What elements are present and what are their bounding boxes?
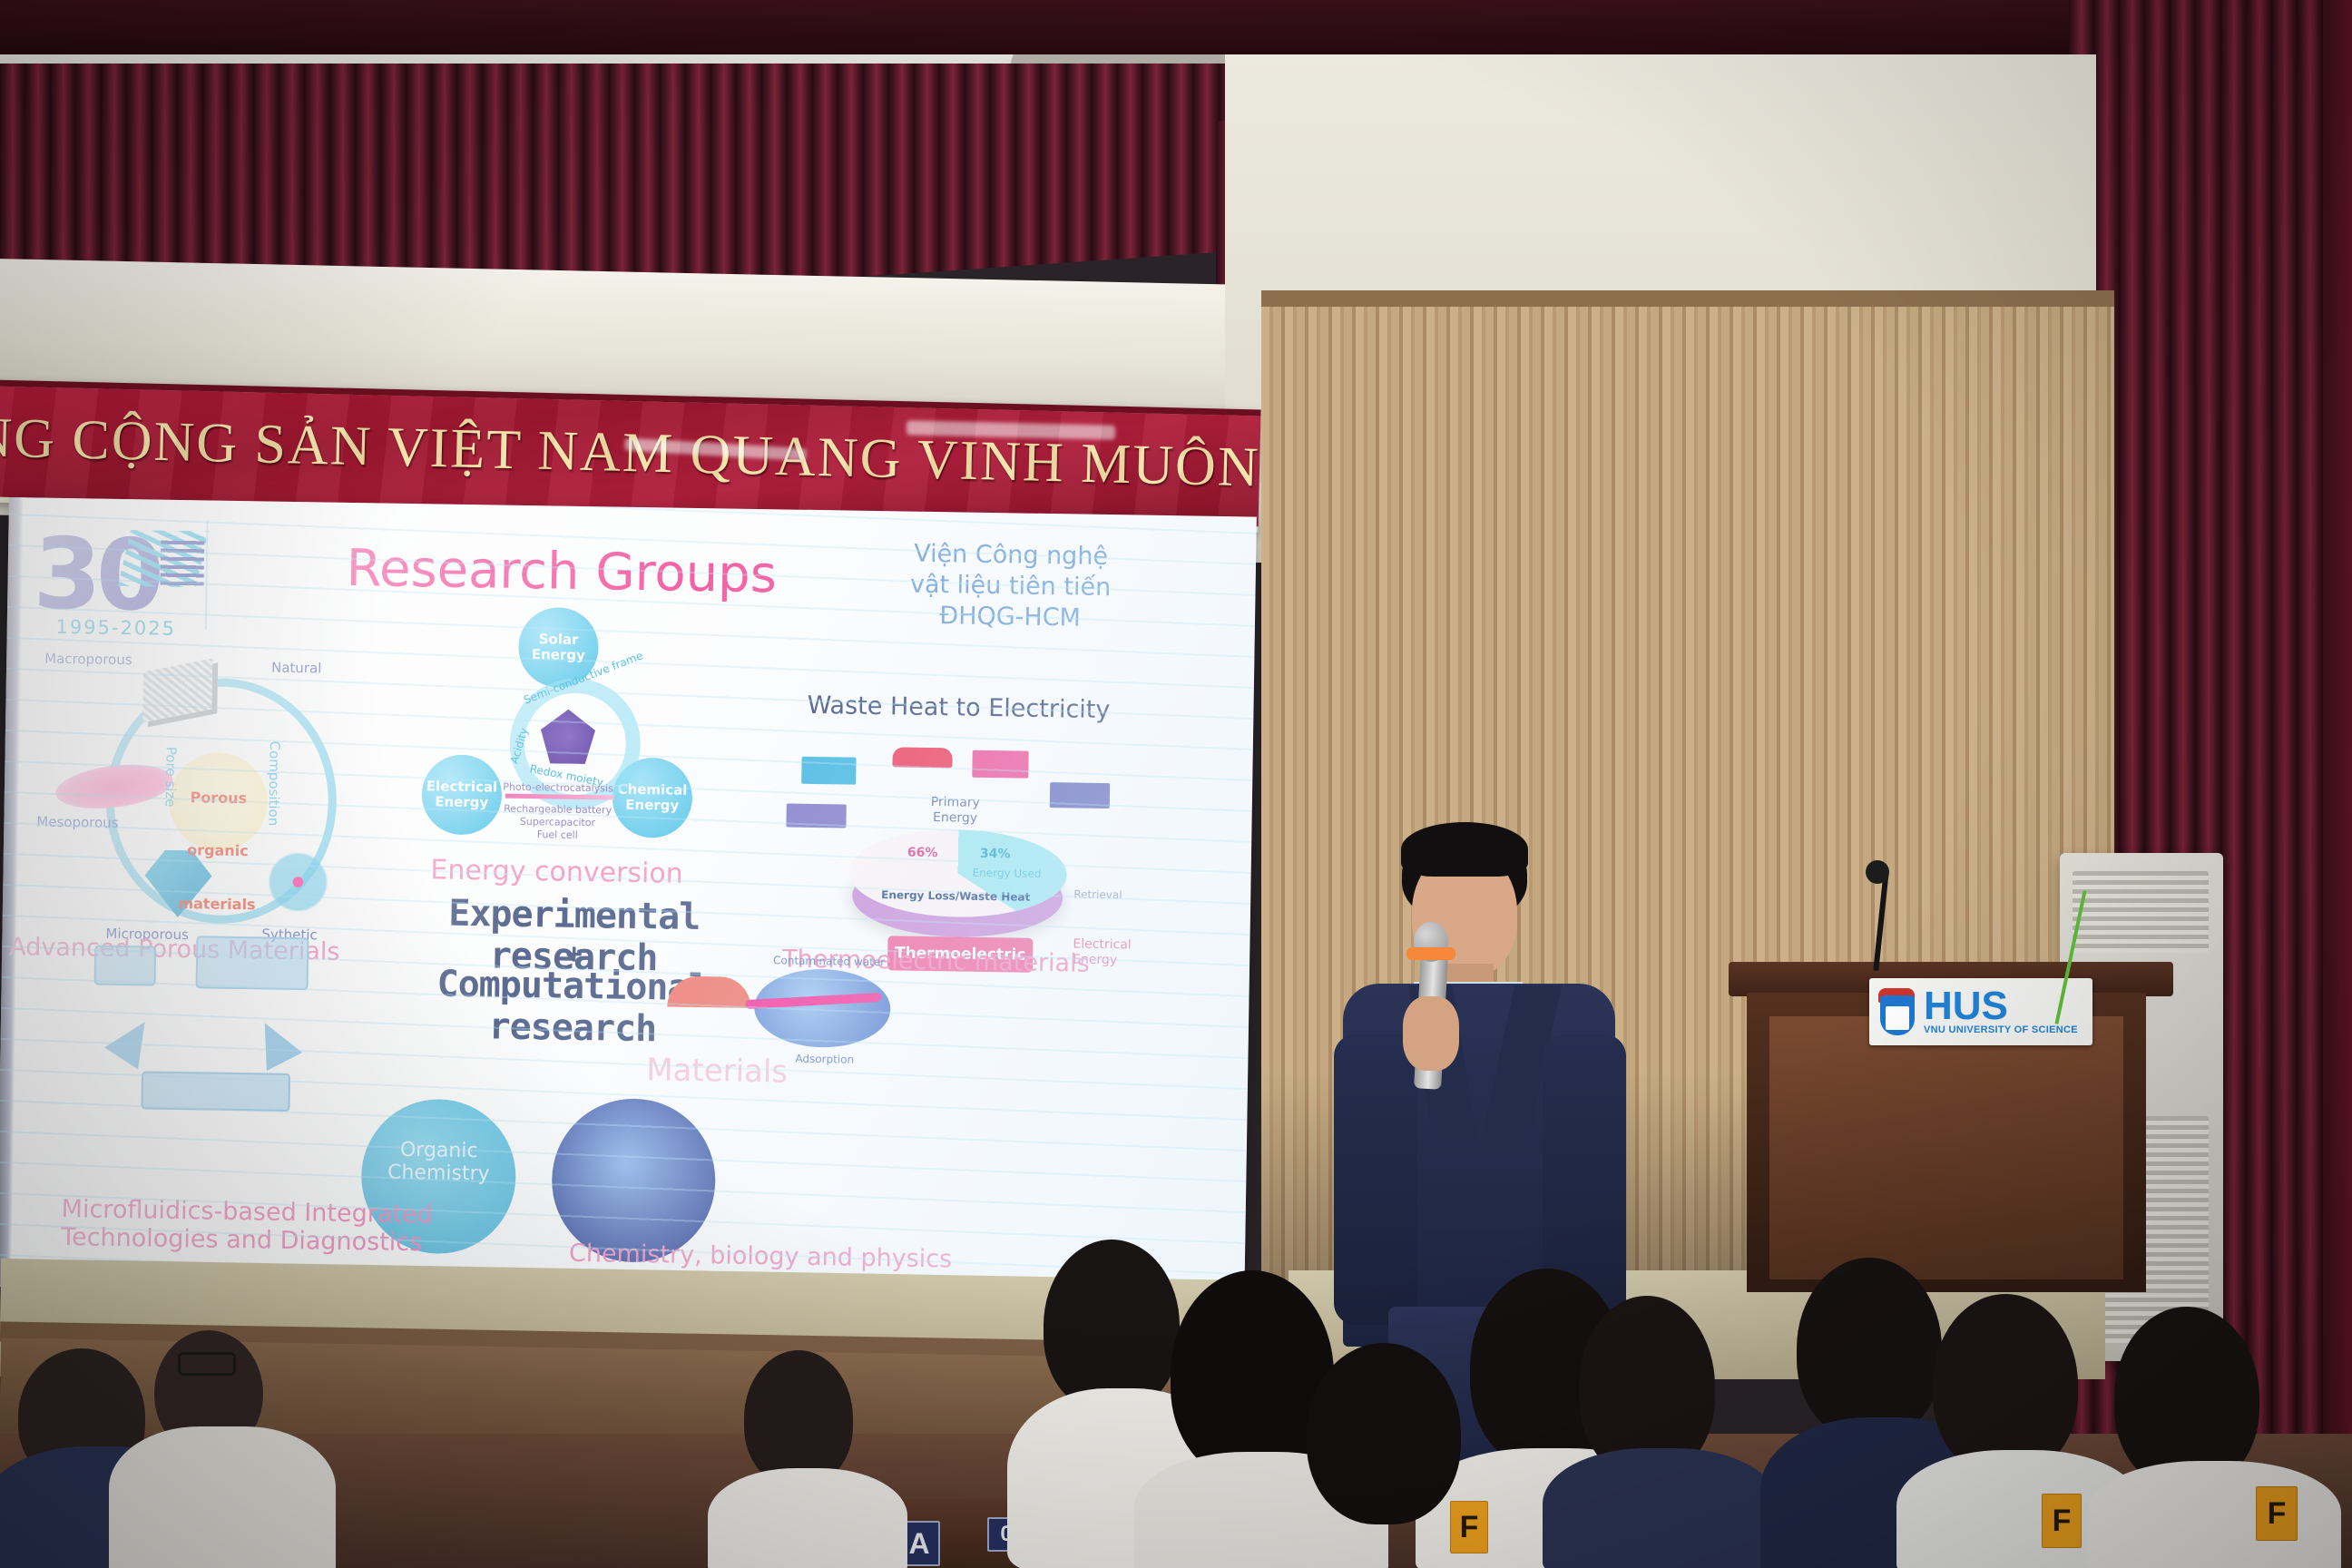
porous-core-l3: materials [168, 877, 267, 914]
label-composition: Composition [265, 740, 282, 826]
logo-fan-blue [161, 536, 205, 586]
porous-core-l1: Porous [170, 770, 269, 808]
microphone-orange-ring [1406, 947, 1455, 960]
mof-molecule-icon [540, 709, 595, 764]
banner-gloss-1 [906, 420, 1115, 439]
logo-years: 1995-2025 [44, 616, 189, 641]
org-line-2: vật liệu tiên tiến [865, 569, 1155, 604]
waste-heat-title: Waste Heat to Electricity [777, 691, 1140, 724]
seat-tag-f-3: F [2256, 1486, 2298, 1541]
banner-text: NG CỘNG SẢN VIỆT NAM QUANG VINH MUÔN NĂM [0, 406, 1260, 500]
projection-screen: 30 1995-2025 Research Groups Viện Công n… [0, 497, 1257, 1306]
note-device-list: Rechargeable battery Supercapacitor Fuel… [457, 802, 658, 843]
audience-head-10 [1307, 1343, 1461, 1524]
hus-shield-icon [1877, 986, 1918, 1037]
caption-chem-bio-phys: Chemistry, biology and physics [569, 1240, 953, 1274]
hus-logo-sub: VNU UNIVERSITY OF SCIENCE [1924, 1024, 2078, 1035]
porous-core-l2: organic [169, 823, 268, 860]
slide-organization: Viện Công nghệ vật liệu tiên tiến ĐHQG-H… [865, 538, 1157, 634]
screen-left-edge [0, 497, 24, 1287]
audience-body-11 [708, 1468, 907, 1568]
audience-head-8 [1933, 1294, 2078, 1475]
contaminated-water-blob [754, 968, 891, 1048]
label-primary-energy: Primary Energy [918, 795, 992, 827]
circle-label-organic-chemistry: Organic Chemistry [361, 1138, 516, 1186]
seat-tag-f-1: F [1450, 1501, 1488, 1553]
speaker-hair-top [1401, 822, 1528, 877]
label-pore-size: Pore size [162, 747, 180, 808]
label-natural: Natural [271, 660, 322, 677]
icon-factory [1050, 782, 1110, 808]
label-mesoporous: Mesoporous [36, 814, 118, 831]
audience-head-11 [744, 1350, 853, 1486]
label-retrieval: Retrieval [1073, 887, 1122, 901]
microfluidics-line-2: Technologies and Diagnostics [61, 1223, 432, 1257]
speaker-hand [1403, 996, 1459, 1071]
microfluidics-diagram [81, 934, 383, 1129]
icon-thermal-power-plant [786, 803, 846, 828]
podium-mic-head [1866, 860, 1889, 884]
hus-text-block: HUS VNU UNIVERSITY OF SCIENCE [1924, 988, 2078, 1035]
energy-conversion-diagram: Solar Energy Electrical Energy Chemical … [421, 605, 697, 837]
ac-vent-top [2073, 871, 2209, 953]
porous-core-bubble: Porous organic materials [169, 752, 269, 852]
mf-chip-bottom [141, 1071, 290, 1112]
curtain-far-right [2323, 0, 2352, 1568]
audience-body-6 [1543, 1448, 1779, 1568]
mf-arrow-left [104, 1011, 162, 1069]
anniversary-logo: 30 1995-2025 [25, 514, 191, 634]
icon-automobile [892, 747, 952, 768]
wood-wall-cap [1261, 290, 2114, 307]
mf-chip-left [94, 946, 157, 986]
caption-energy-conversion: Energy conversion [393, 854, 720, 891]
primary-l2: Energy [933, 810, 977, 826]
caption-microfluidics: Microfluidics-based Integrated Technolog… [61, 1195, 433, 1258]
podium-front-panel [1769, 1016, 2123, 1279]
synthetic-polymer-icon [262, 846, 334, 917]
icon-waste-incinerator [972, 750, 1028, 779]
banner-gloss-2 [624, 437, 806, 461]
audience-body-2 [109, 1426, 336, 1568]
porous-materials-diagram: Porous organic materials Macroporous Nat… [34, 651, 366, 965]
audience-head-7 [1797, 1258, 1942, 1439]
audience-body-9 [2087, 1461, 2341, 1568]
org-line-3: ĐHQG-HCM [865, 599, 1155, 634]
pie-value-waste: 66% [907, 846, 938, 861]
molecular-model-circle [551, 1098, 717, 1264]
label-contaminated-water: Contaminated water [773, 954, 885, 968]
hus-page-icon [1886, 1006, 1909, 1030]
curtain-pelmet [0, 0, 2352, 54]
presentation-photo-scene: NG CỘNG SẢN VIỆT NAM QUANG VINH MUÔN NĂM… [0, 0, 2352, 1568]
audience-head-3 [1044, 1240, 1180, 1412]
label-macroporous: Macroporous [44, 651, 132, 669]
icon-nuclear-power-plant [801, 757, 856, 785]
pie-label-used: Energy Used [973, 867, 1042, 880]
speaker-arm-left [1334, 1034, 1417, 1325]
pie-value-used: 34% [980, 847, 1011, 862]
pie-label-waste: Energy Loss/Waste Heat [881, 888, 1030, 904]
mf-chip-right [196, 936, 309, 990]
org-line-1: Viện Công nghệ [866, 538, 1156, 573]
solar-l2: Energy [532, 646, 585, 663]
slide-title: Research Groups [307, 538, 816, 605]
adsorbent-umbrella-icon [667, 975, 751, 1007]
mf-arrow-right [247, 1014, 302, 1071]
caption-materials-word: Materials [581, 1051, 854, 1092]
audience-eyeglasses [178, 1352, 236, 1376]
primary-l1: Primary [931, 795, 980, 810]
seat-tag-f-2: F [2042, 1494, 2082, 1548]
solar-l1: Solar [539, 631, 579, 648]
